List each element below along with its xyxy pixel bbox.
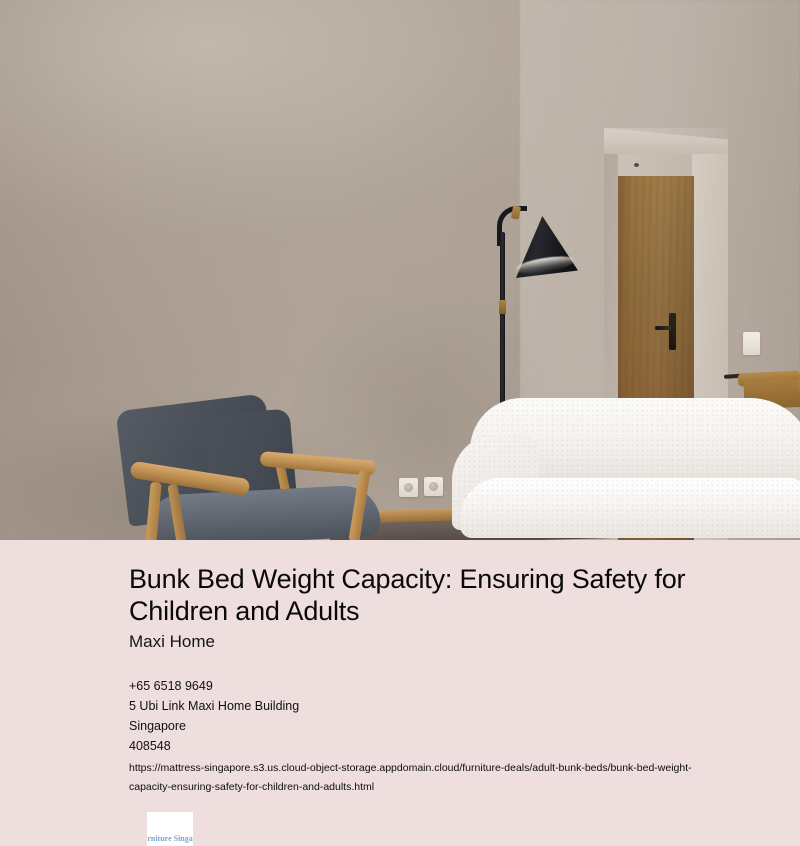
contact-address: 5 Ubi Link Maxi Home Building [129, 696, 729, 716]
page-title: Bunk Bed Weight Capacity: Ensuring Safet… [129, 563, 689, 627]
light-switch [743, 332, 760, 355]
page-root: Bunk Bed Weight Capacity: Ensuring Safet… [0, 0, 800, 840]
door-lockplate [669, 313, 676, 350]
content-panel: Bunk Bed Weight Capacity: Ensuring Safet… [0, 540, 800, 840]
door-handle [655, 326, 671, 330]
sofa-seat-cushion [460, 478, 800, 538]
armchair [112, 398, 384, 540]
logo-text: Furniture Singapore [147, 834, 193, 843]
contact-phone[interactable]: +65 6518 9649 [129, 676, 729, 696]
contact-country: Singapore [129, 716, 729, 736]
power-outlet-2 [424, 477, 443, 496]
article-url[interactable]: https://mattress-singapore.s3.us.cloud-o… [129, 759, 695, 797]
white-sofa [452, 392, 800, 540]
sofa-boucle-texture [460, 478, 800, 538]
contact-postal-code: 408548 [129, 736, 729, 756]
lamp-brass-joint-mid [499, 300, 506, 314]
logo-card[interactable]: Furniture Singapore [147, 812, 193, 846]
door-stopper-icon [634, 163, 639, 167]
power-outlet-1 [399, 478, 418, 497]
brand-name: Maxi Home [129, 631, 215, 653]
hero-image [0, 0, 800, 540]
contact-block: +65 6518 9649 5 Ubi Link Maxi Home Build… [129, 676, 729, 756]
